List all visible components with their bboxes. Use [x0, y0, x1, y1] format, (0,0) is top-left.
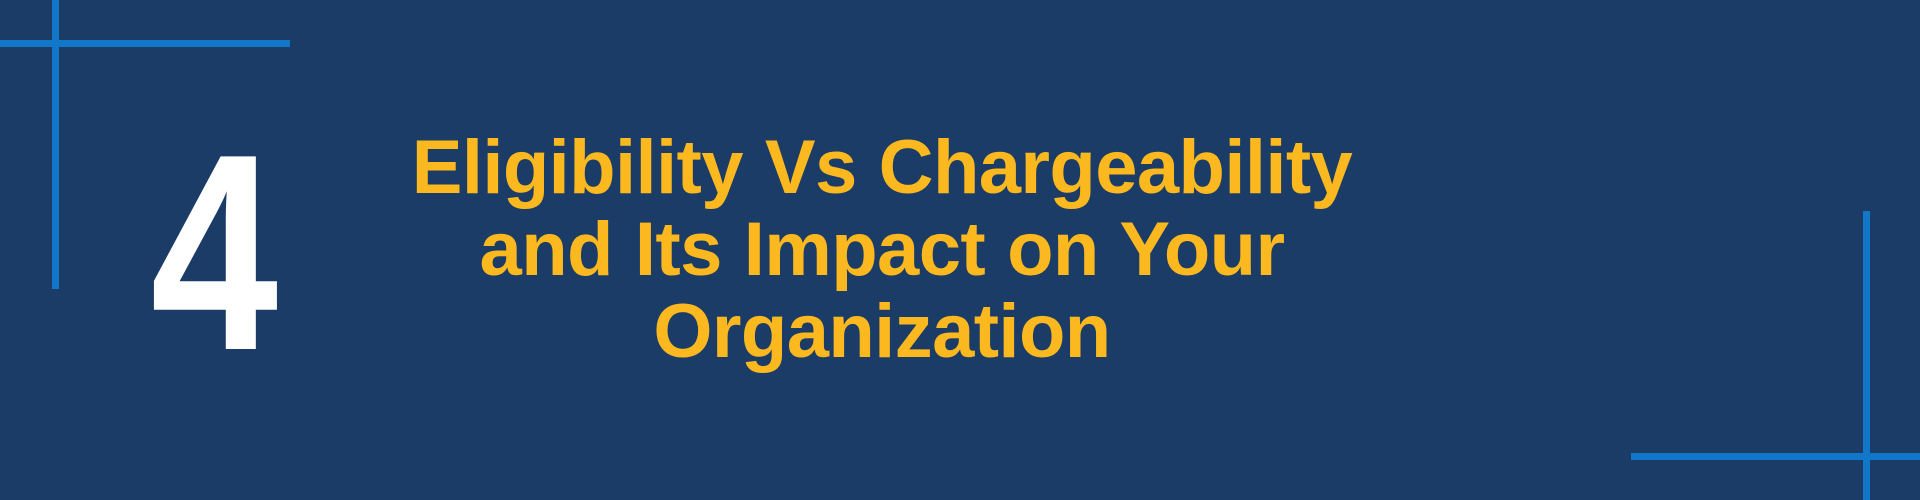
slide-header-banner: 4 Eligibility Vs Chargeability and Its I…	[0, 0, 1920, 500]
banner-content: 4 Eligibility Vs Chargeability and Its I…	[0, 0, 1920, 500]
headline-line-1: Eligibility Vs Chargeability	[322, 127, 1442, 209]
headline: Eligibility Vs Chargeability and Its Imp…	[322, 127, 1442, 373]
step-number: 4	[130, 133, 294, 374]
headline-line-2: and Its Impact on Your	[322, 209, 1442, 291]
headline-line-3: Organization	[322, 291, 1442, 373]
